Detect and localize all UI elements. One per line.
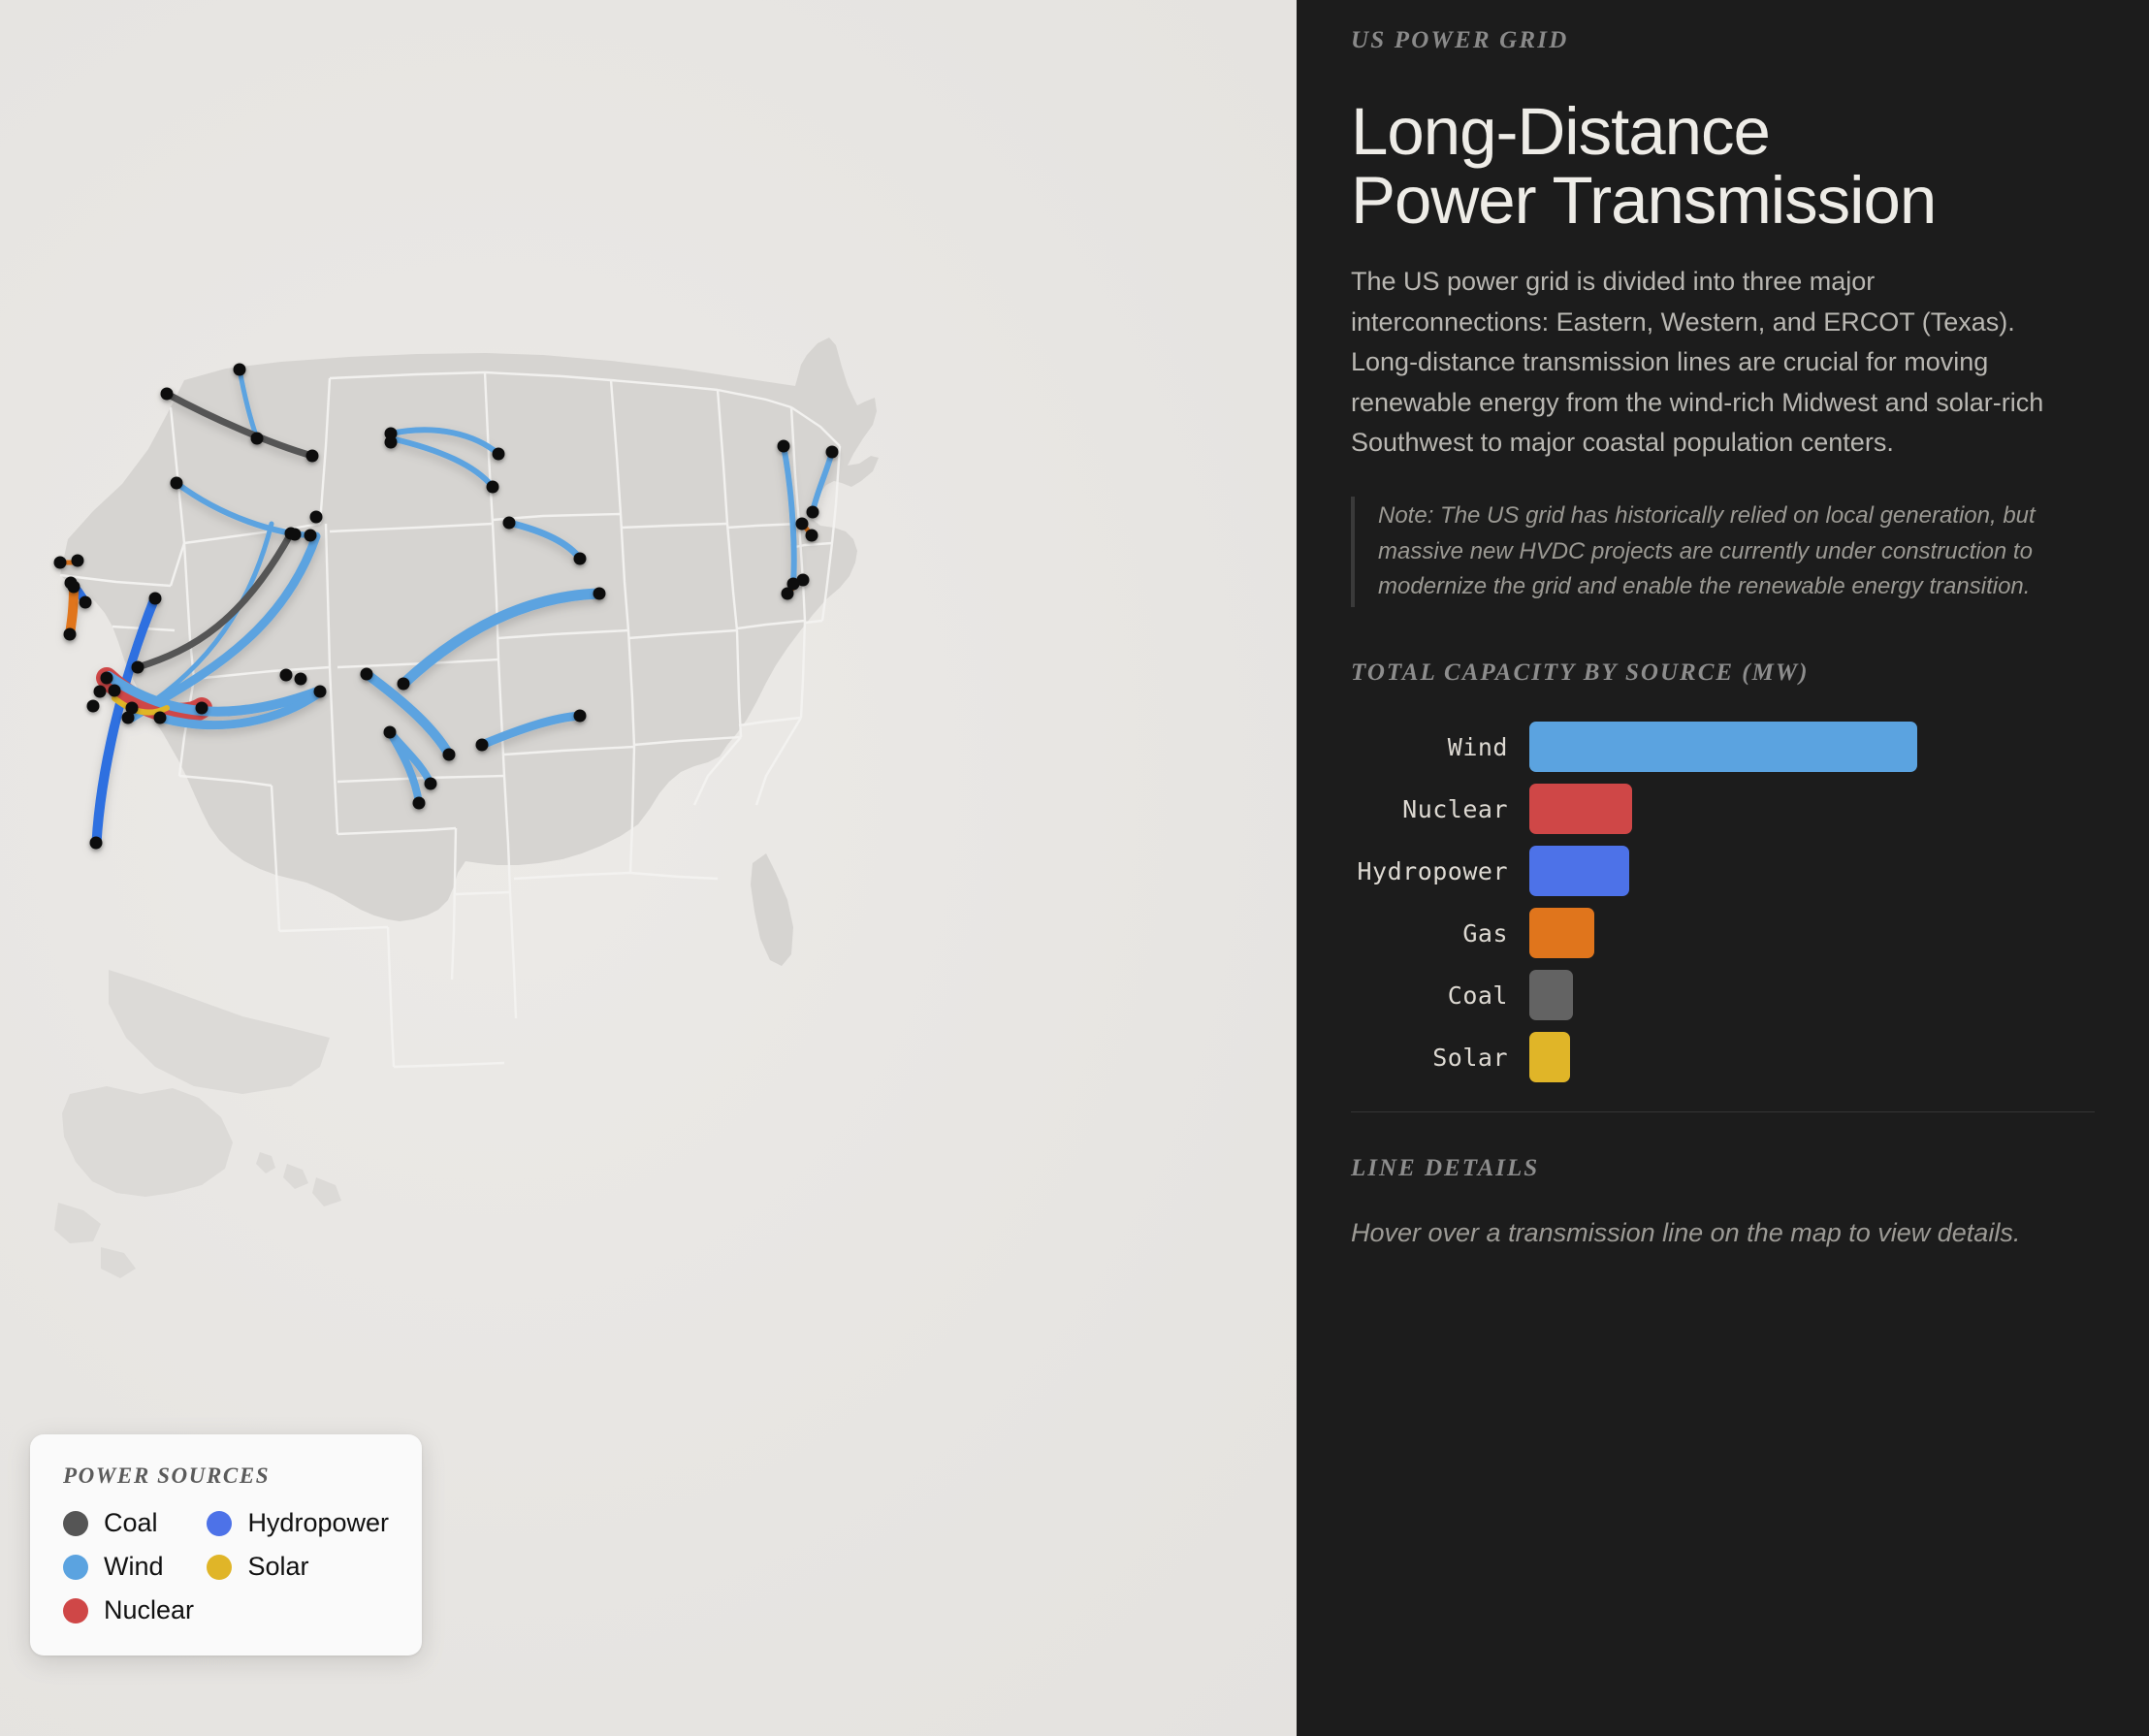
bar-row-nuclear[interactable]: Nuclear bbox=[1351, 784, 2095, 834]
node[interactable] bbox=[778, 440, 790, 453]
bar-label: Solar bbox=[1351, 1044, 1529, 1072]
bar-nuclear[interactable] bbox=[1529, 784, 1632, 834]
node[interactable] bbox=[54, 557, 67, 569]
node[interactable] bbox=[234, 364, 246, 376]
bar-label: Coal bbox=[1351, 981, 1529, 1010]
legend-label: Wind bbox=[104, 1554, 164, 1580]
legend-item-coal[interactable]: Coal bbox=[63, 1510, 207, 1536]
node[interactable] bbox=[101, 672, 113, 685]
bar-label: Gas bbox=[1351, 919, 1529, 948]
legend-grid: Coal Hydropower Wind Solar Nuclear bbox=[63, 1510, 389, 1623]
node[interactable] bbox=[109, 685, 121, 697]
line-details-body: Hover over a transmission line on the ma… bbox=[1351, 1213, 2030, 1253]
node[interactable] bbox=[493, 448, 505, 461]
node[interactable] bbox=[487, 481, 499, 494]
node[interactable] bbox=[161, 388, 174, 401]
legend-label: Hydropower bbox=[247, 1510, 389, 1536]
bar-label: Nuclear bbox=[1351, 795, 1529, 823]
nuclear-swatch-icon bbox=[63, 1598, 88, 1623]
node[interactable] bbox=[280, 669, 293, 682]
node[interactable] bbox=[384, 726, 397, 739]
node[interactable] bbox=[476, 739, 489, 752]
node[interactable] bbox=[826, 446, 839, 459]
capacity-section-heading: TOTAL CAPACITY BY SOURCE (MW) bbox=[1351, 659, 2095, 687]
description-paragraph: The US power grid is divided into three … bbox=[1351, 262, 2078, 464]
bar-row-wind[interactable]: Wind bbox=[1351, 722, 2095, 772]
node[interactable] bbox=[398, 678, 410, 691]
bar-wind[interactable] bbox=[1529, 722, 1917, 772]
node[interactable] bbox=[87, 700, 100, 713]
node[interactable] bbox=[807, 506, 819, 519]
legend-item-wind[interactable]: Wind bbox=[63, 1554, 207, 1580]
node[interactable] bbox=[310, 511, 323, 524]
bar-row-solar[interactable]: Solar bbox=[1351, 1032, 2095, 1082]
node[interactable] bbox=[806, 530, 818, 542]
node[interactable] bbox=[251, 433, 264, 445]
node[interactable] bbox=[126, 702, 139, 715]
legend-label: Solar bbox=[247, 1554, 308, 1580]
node[interactable] bbox=[295, 673, 307, 686]
node[interactable] bbox=[797, 574, 810, 587]
info-sidebar: US POWER GRID Long-Distance Power Transm… bbox=[1297, 0, 2149, 1736]
legend-title: POWER SOURCES bbox=[63, 1463, 389, 1489]
legend-item-hydropower[interactable]: Hydropower bbox=[207, 1510, 389, 1536]
node[interactable] bbox=[574, 553, 587, 565]
node[interactable] bbox=[306, 450, 319, 463]
node[interactable] bbox=[361, 668, 373, 681]
sidebar-divider bbox=[1351, 1111, 2095, 1112]
app-root: POWER SOURCES Coal Hydropower Wind Solar bbox=[0, 0, 2149, 1736]
node[interactable] bbox=[64, 628, 77, 641]
bar-label: Hydropower bbox=[1351, 857, 1529, 885]
node[interactable] bbox=[385, 436, 398, 449]
node[interactable] bbox=[72, 555, 84, 567]
node[interactable] bbox=[796, 518, 809, 530]
node[interactable] bbox=[413, 797, 426, 810]
bar-solar[interactable] bbox=[1529, 1032, 1570, 1082]
coal-swatch-icon bbox=[63, 1511, 88, 1536]
node[interactable] bbox=[149, 593, 162, 605]
line-central-valley-gas[interactable] bbox=[70, 587, 74, 634]
page-title-line2: Power Transmission bbox=[1351, 163, 1936, 238]
node[interactable] bbox=[90, 837, 103, 850]
wind-swatch-icon bbox=[63, 1555, 88, 1580]
hydropower-swatch-icon bbox=[207, 1511, 232, 1536]
legend-label: Coal bbox=[104, 1510, 158, 1536]
node[interactable] bbox=[132, 661, 144, 674]
bar-hydropower[interactable] bbox=[1529, 846, 1629, 896]
node[interactable] bbox=[425, 778, 437, 790]
node[interactable] bbox=[80, 596, 92, 609]
solar-swatch-icon bbox=[207, 1555, 232, 1580]
line-details-heading: LINE DETAILS bbox=[1351, 1155, 2095, 1182]
legend-card: POWER SOURCES Coal Hydropower Wind Solar bbox=[30, 1434, 422, 1656]
node[interactable] bbox=[503, 517, 516, 530]
node[interactable] bbox=[196, 702, 208, 715]
node[interactable] bbox=[305, 530, 317, 542]
bar-coal[interactable] bbox=[1529, 970, 1573, 1020]
bar-row-coal[interactable]: Coal bbox=[1351, 970, 2095, 1020]
node[interactable] bbox=[171, 477, 183, 490]
node[interactable] bbox=[782, 588, 794, 600]
map-pane[interactable]: POWER SOURCES Coal Hydropower Wind Solar bbox=[0, 0, 1297, 1736]
legend-item-solar[interactable]: Solar bbox=[207, 1554, 389, 1580]
capacity-bar-chart: Wind Nuclear Hydropower Gas Coal Solar bbox=[1351, 722, 2095, 1082]
page-title-line1: Long-Distance bbox=[1351, 94, 1770, 169]
bar-gas[interactable] bbox=[1529, 908, 1594, 958]
node[interactable] bbox=[574, 710, 587, 723]
eyebrow-label: US POWER GRID bbox=[1351, 27, 2095, 54]
node[interactable] bbox=[443, 749, 456, 761]
node[interactable] bbox=[154, 712, 167, 724]
note-callout: Note: The US grid has historically relie… bbox=[1351, 497, 2069, 607]
bar-row-hydropower[interactable]: Hydropower bbox=[1351, 846, 2095, 896]
bar-row-gas[interactable]: Gas bbox=[1351, 908, 2095, 958]
node[interactable] bbox=[94, 686, 107, 698]
page-title: Long-Distance Power Transmission bbox=[1351, 97, 2095, 235]
legend-item-nuclear[interactable]: Nuclear bbox=[63, 1597, 207, 1623]
legend-label: Nuclear bbox=[104, 1597, 194, 1623]
node[interactable] bbox=[593, 588, 606, 600]
node[interactable] bbox=[314, 686, 327, 698]
node[interactable] bbox=[285, 528, 298, 540]
bar-label: Wind bbox=[1351, 733, 1529, 761]
node[interactable] bbox=[68, 581, 80, 594]
